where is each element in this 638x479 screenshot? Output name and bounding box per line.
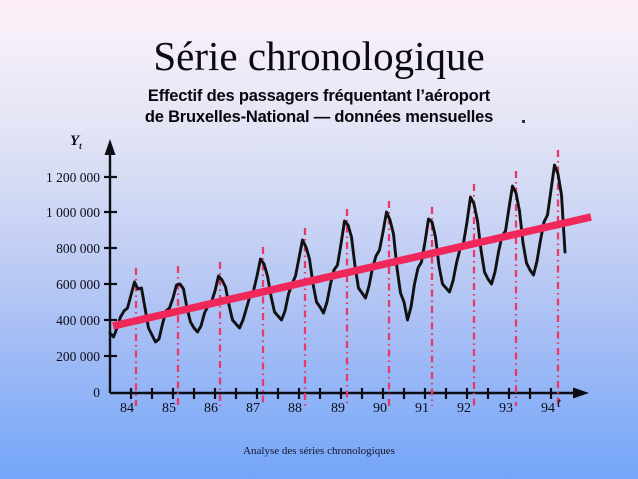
y-tick-label: 200 000: [0, 349, 100, 365]
x-tick-label: 87: [233, 401, 273, 417]
x-tick-label: 91: [402, 401, 442, 417]
y-tick-label: 600 000: [0, 277, 100, 293]
x-tick-label: 84: [107, 401, 147, 417]
y-tick-label: 400 000: [0, 313, 100, 329]
y-axis-arrow-icon: [105, 139, 116, 155]
y-tick-label: 1 200 000: [0, 170, 100, 186]
y-axis-label: Yt: [70, 133, 82, 151]
x-tick-label: 94: [528, 401, 568, 417]
x-tick-label: 92: [444, 401, 484, 417]
slide-canvas: Série chronologique Effectif des passage…: [0, 0, 638, 479]
linear-trend-line: [113, 217, 591, 326]
passenger-series-line: [110, 165, 565, 342]
x-axis-arrow-icon: [573, 388, 589, 399]
x-tick-label: 89: [318, 401, 358, 417]
slide-footer: Analyse des séries chronologiques: [0, 445, 638, 457]
y-tick-label: 800 000: [0, 241, 100, 257]
x-axis-ticks: [131, 388, 551, 399]
y-axis-label-text: Y: [70, 133, 79, 149]
y-axis-label-subscript: t: [79, 141, 82, 151]
x-tick-label: 93: [486, 401, 526, 417]
x-tick-label: 88: [275, 401, 315, 417]
y-tick-label: 1 000 000: [0, 205, 100, 221]
x-tick-label: 90: [360, 401, 400, 417]
x-tick-label: 86: [191, 401, 231, 417]
x-tick-label: 85: [149, 401, 189, 417]
y-tick-label: 0: [0, 385, 100, 401]
